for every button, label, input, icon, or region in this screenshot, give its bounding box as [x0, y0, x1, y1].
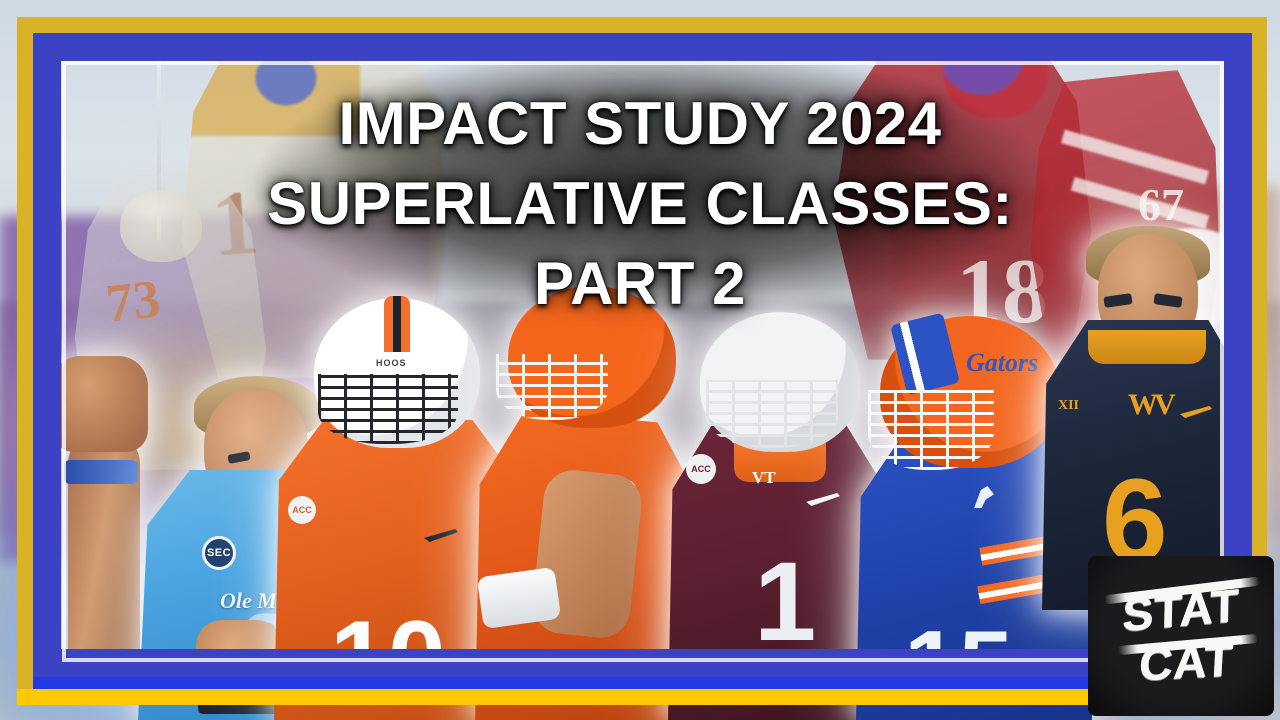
- logo-text-cat: CAT: [1138, 637, 1234, 686]
- logo-text-stat: STAT: [1122, 583, 1240, 638]
- bottom-gold-bar: [17, 689, 1267, 705]
- stat-cat-logo: STAT CAT: [1088, 556, 1274, 716]
- frame-white-line: [62, 61, 1224, 662]
- bottom-blue-bar: [33, 677, 1252, 689]
- youtube-thumbnail: 1 73 18 67 28 SEC Ole Miss 8: [0, 0, 1280, 720]
